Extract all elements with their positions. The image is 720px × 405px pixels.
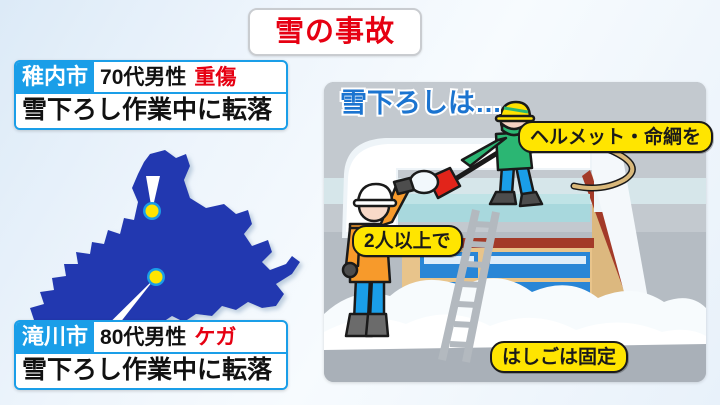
incident-header-wakkanai: 稚内市 70代男性 重傷: [16, 62, 286, 92]
incident-card-wakkanai: 稚内市 70代男性 重傷 雪下ろし作業中に転落: [14, 60, 288, 130]
tip-helmet-lifeline: ヘルメット・命綱を: [518, 121, 713, 153]
incident-severity-takikawa: ケガ: [192, 322, 242, 352]
panel-heading: 雪下ろしは…: [340, 90, 502, 117]
incident-card-takikawa: 滝川市 80代男性 ケガ 雪下ろし作業中に転落: [14, 320, 288, 390]
graphic-canvas: 雪の事故 稚内市 70代男性 重傷 雪下ろし作業中: [0, 0, 720, 405]
tip-secure-ladder-label: はしごは固定: [502, 348, 616, 367]
incident-severity-wakkanai: 重傷: [192, 62, 242, 92]
incident-city-takikawa: 滝川市: [16, 322, 94, 352]
page-title: 雪の事故: [248, 8, 422, 56]
helper-hand-down: [343, 263, 357, 277]
incident-city-wakkanai: 稚内市: [16, 62, 94, 92]
helper-hand-up: [394, 178, 414, 194]
panel-heading-text: 雪下ろしは…: [340, 88, 502, 118]
tip-secure-ladder: はしごは固定: [490, 341, 628, 373]
tip-helmet-lifeline-label: ヘルメット・命綱を: [530, 128, 701, 147]
worker-boot-left: [490, 192, 516, 204]
incident-header-takikawa: 滝川市 80代男性 ケガ: [16, 322, 286, 352]
incident-description-takikawa: 雪下ろし作業中に転落: [16, 352, 286, 388]
incident-person-wakkanai: 70代男性: [94, 62, 192, 92]
incident-description-wakkanai: 雪下ろし作業中に転落: [16, 92, 286, 128]
incident-person-takikawa: 80代男性: [94, 322, 192, 352]
map-marker-wakkanai-core: [146, 205, 159, 218]
page-title-text: 雪の事故: [275, 18, 395, 47]
map-marker-takikawa-core: [150, 271, 163, 284]
helper-leg-right: [370, 278, 384, 318]
helper-boot-right: [366, 314, 388, 336]
tip-two-or-more-label: 2人以上で: [364, 232, 451, 251]
helper-helmet-brim: [354, 200, 396, 206]
tip-two-or-more: 2人以上で: [352, 225, 463, 257]
